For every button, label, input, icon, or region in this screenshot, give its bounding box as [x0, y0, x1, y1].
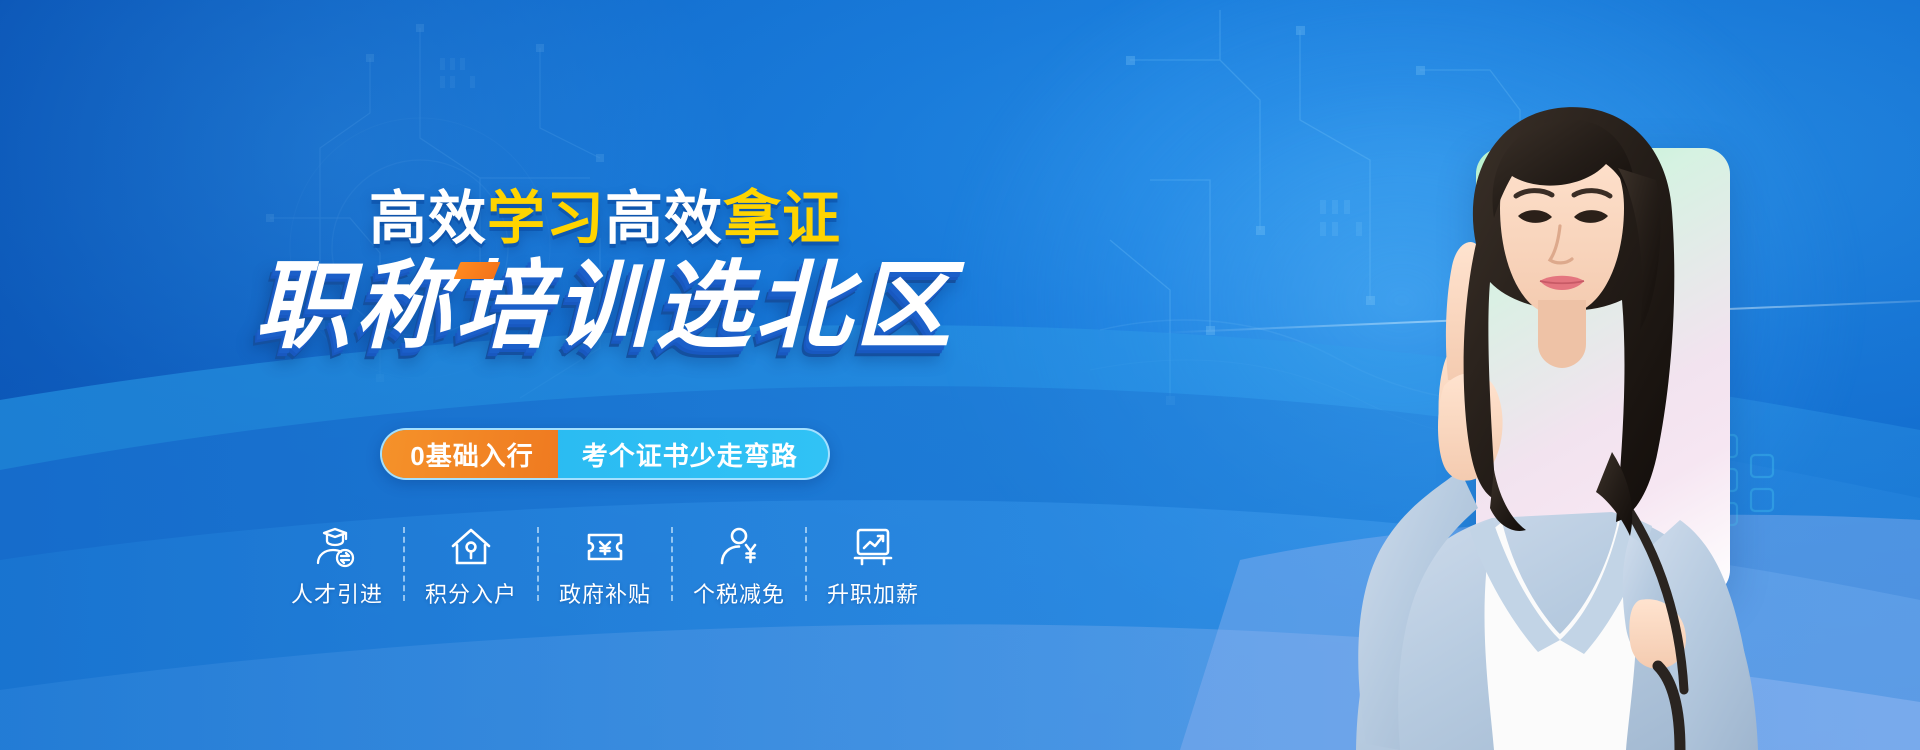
feature-item-tax-relief[interactable]: 个税减免	[673, 525, 805, 609]
person-yuan-icon	[716, 525, 762, 569]
slogan-left-label: 0基础入行	[382, 430, 557, 478]
headline-segment-4: 拿证	[723, 186, 841, 251]
house-pin-icon	[448, 525, 494, 569]
feature-item-subsidy[interactable]: 政府补贴	[539, 525, 671, 609]
feature-strip: 人才引进 积分入户	[0, 525, 1210, 609]
feature-label: 积分入户	[425, 577, 517, 609]
main-title-wrap: 职称培训选北区	[0, 258, 1210, 368]
feature-item-promotion[interactable]: 升职加薪	[807, 525, 939, 609]
headline-segment-1: 高效	[369, 186, 487, 251]
slogan-row: 0基础入行 考个证书少走弯路	[0, 428, 1210, 480]
main-title: 职称培训选北区	[255, 258, 955, 356]
feature-label: 升职加薪	[827, 577, 919, 609]
headline-segment-3: 高效	[605, 186, 723, 251]
growth-chart-board-icon	[850, 525, 896, 569]
feature-label: 个税减免	[693, 577, 785, 609]
pointing-woman-photo	[1160, 0, 1920, 750]
feature-item-talent[interactable]: 人才引进	[271, 525, 403, 609]
slogan-right-label: 考个证书少走弯路	[558, 430, 828, 478]
feature-item-residency[interactable]: 积分入户	[405, 525, 537, 609]
feature-label: 政府补贴	[559, 577, 651, 609]
feature-label: 人才引进	[291, 577, 383, 609]
coupon-ticket-icon	[582, 525, 628, 569]
graduate-person-icon	[314, 525, 360, 569]
orange-accent-mark	[454, 262, 501, 279]
headline-segment-2: 学习	[487, 186, 605, 251]
promo-banner: 高效学习高效拿证 职称培训选北区 0基础入行 考个证书少走弯路	[0, 0, 1920, 750]
slogan-pill: 0基础入行 考个证书少走弯路	[380, 428, 829, 480]
copy-block: 高效学习高效拿证 职称培训选北区 0基础入行 考个证书少走弯路	[0, 0, 1210, 750]
hero-illustration	[1160, 0, 1920, 750]
headline: 高效学习高效拿证	[0, 190, 1210, 248]
